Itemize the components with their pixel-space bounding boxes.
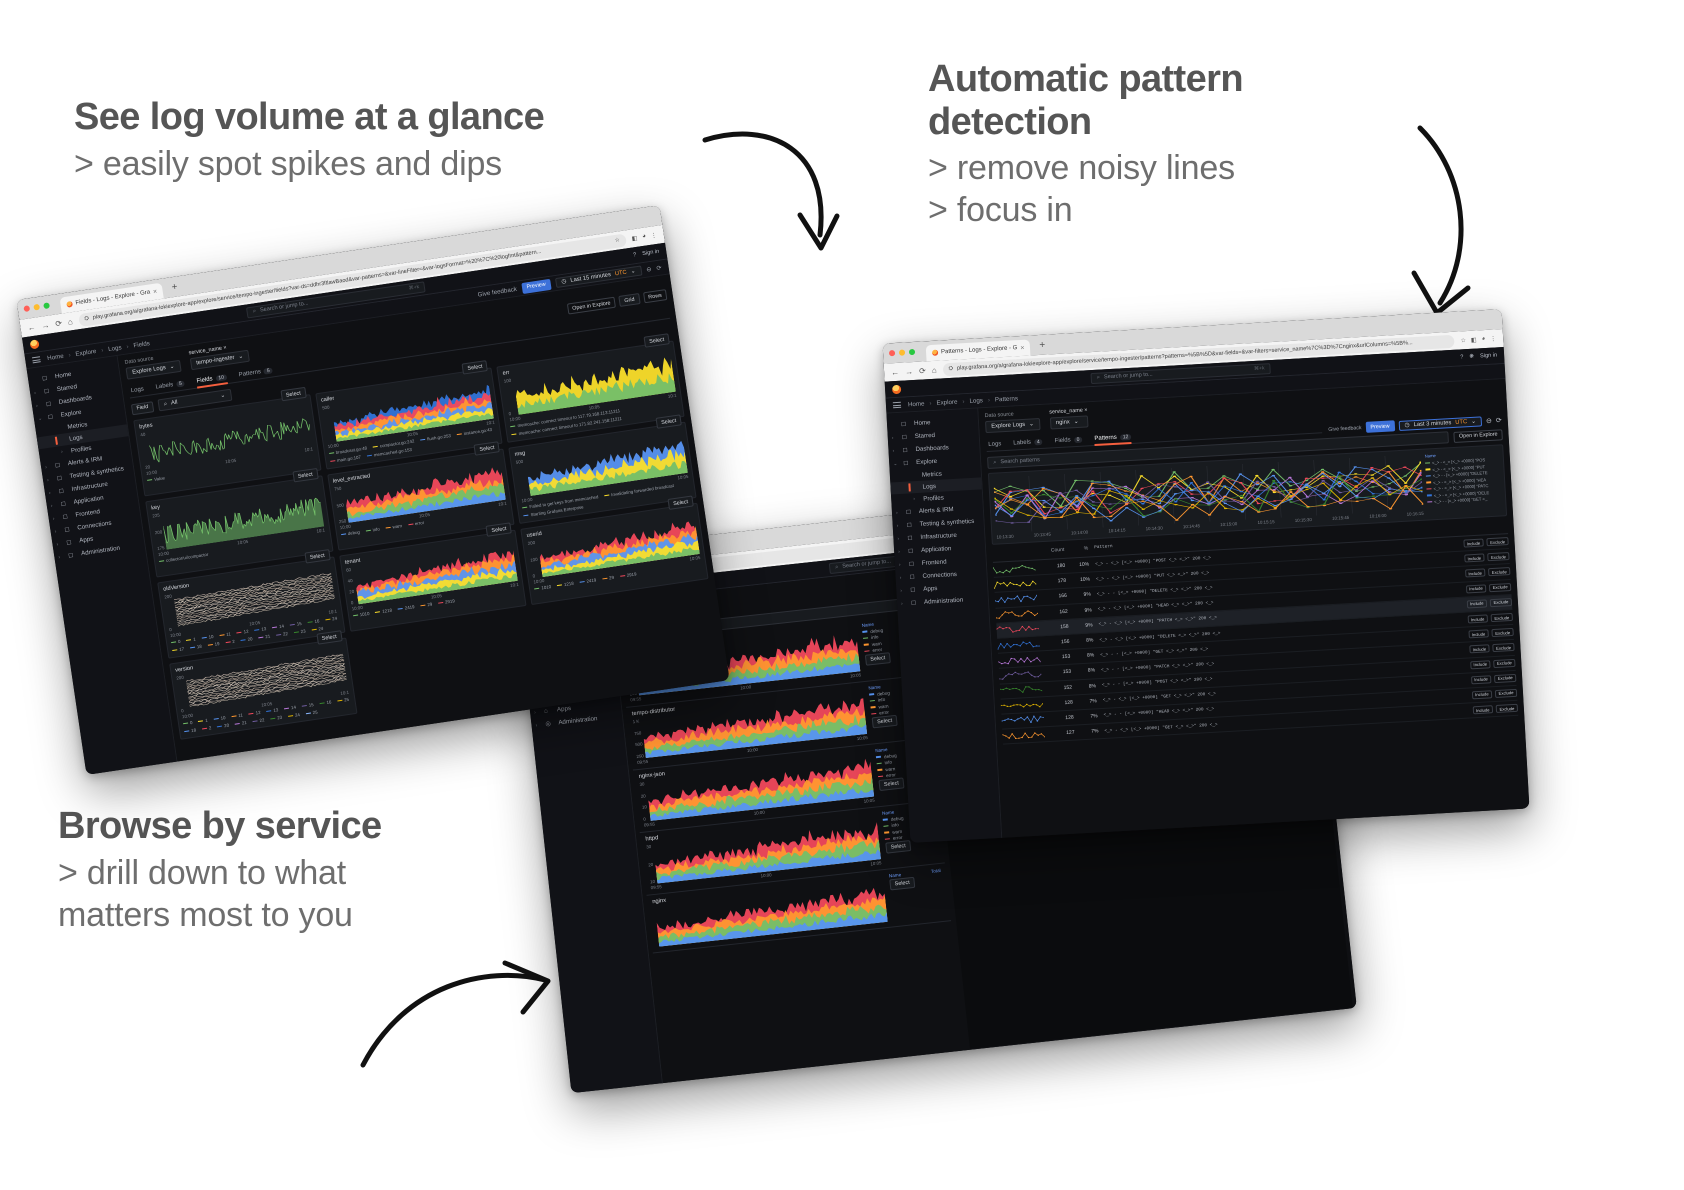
close-tab-icon[interactable]: ×	[153, 288, 158, 296]
maximize-window-icon[interactable]	[909, 349, 915, 355]
patterns-table[interactable]: Count % Pattern 18010%<_> - <_> [<_> +00…	[992, 520, 1518, 745]
tab-count: 0	[1074, 436, 1083, 442]
tab-label: Logs	[988, 441, 1001, 448]
pattern-count: 158	[1044, 624, 1068, 631]
annotation-browse-by-service: Browse by service > drill down to what m…	[58, 805, 578, 936]
tab-logs[interactable]: Logs	[130, 382, 145, 397]
x-tick: 10:14:15	[1108, 527, 1125, 533]
legend-entry[interactable]: 24	[288, 712, 300, 719]
exclude-button[interactable]: Exclude	[1490, 598, 1512, 607]
tab-patterns[interactable]: Patterns12	[1094, 430, 1132, 445]
breadcrumb-explore[interactable]: Explore	[936, 398, 957, 406]
sign-in-link[interactable]: Sign in	[1480, 352, 1497, 359]
include-button[interactable]: Include	[1463, 539, 1484, 548]
pattern-sparkline	[998, 654, 1040, 665]
include-button[interactable]: Include	[1469, 645, 1490, 654]
tab-labels[interactable]: Labels4	[1013, 435, 1043, 450]
legend-entry[interactable]: 22	[276, 631, 288, 638]
y-tick: 30	[646, 844, 651, 849]
legend-entry[interactable]: 18	[190, 644, 202, 651]
legend-entry[interactable]: 11	[231, 712, 243, 719]
legend-entry[interactable]: 15	[290, 621, 302, 628]
legend-entry[interactable]: 10	[213, 715, 225, 722]
forward-icon[interactable]: →	[41, 320, 50, 330]
include-button[interactable]: Include	[1465, 584, 1486, 593]
pattern-percent: 8%	[1075, 637, 1093, 644]
include-button[interactable]: Include	[1464, 554, 1485, 563]
menu-icon[interactable]: ⋮	[1490, 335, 1496, 342]
breadcrumb-logs[interactable]: Logs	[108, 344, 122, 353]
give-feedback-link[interactable]: Give feedback	[1328, 425, 1361, 433]
minimize-window-icon[interactable]	[33, 304, 40, 311]
legend-label: 29	[427, 602, 433, 608]
legend-label: 13	[261, 626, 267, 632]
layout-grid-button[interactable]: Grid	[619, 293, 641, 307]
legend-entry[interactable]: 29	[420, 602, 432, 609]
y-tick: 200	[527, 540, 535, 546]
y-tick: 40	[140, 432, 146, 438]
application-icon: ◻	[908, 547, 916, 555]
chevron-right-icon: ›	[47, 476, 53, 483]
browser-window-patterns[interactable]: Patterns - Logs - Explore - G × + ← → ⟳ …	[883, 309, 1530, 843]
exclude-button[interactable]: Exclude	[1489, 583, 1511, 592]
pattern-count: 166	[1043, 593, 1067, 600]
x-tick: 10:1	[340, 690, 349, 696]
layout-rows-button[interactable]: Rows	[643, 289, 668, 303]
legend-entry[interactable]: debug	[340, 529, 360, 537]
patterns-chart[interactable]: 10:13:3010:13:4510:14:0010:14:1510:14:30…	[993, 454, 1424, 540]
time-range-value: Last 3 minutes	[1413, 420, 1451, 428]
breadcrumb-home[interactable]: Home	[47, 352, 64, 361]
select-button[interactable]: Select	[865, 652, 891, 666]
legend-entry[interactable]: 15	[301, 702, 313, 709]
exclude-button[interactable]: Exclude	[1491, 613, 1513, 622]
legend-entry[interactable]: 23	[270, 715, 282, 722]
legend-label: 2419	[404, 604, 414, 610]
x-tick: 10:14:30	[1146, 525, 1163, 531]
pattern-percent: 7%	[1080, 713, 1098, 720]
legend-entry[interactable]: 1010	[352, 611, 369, 618]
pattern-sparkline	[1001, 700, 1043, 711]
legend-entry[interactable]: info	[365, 526, 380, 533]
x-tick: 09:55	[644, 822, 655, 828]
breadcrumb-logs[interactable]: Logs	[969, 397, 983, 405]
sidebar-item-label: Apps	[557, 705, 572, 713]
legend-label: 24	[295, 712, 301, 718]
x-tick: 09:55	[630, 696, 641, 702]
legend-label: debug	[884, 752, 897, 758]
x-tick: 10:15:45	[1332, 515, 1349, 521]
breadcrumb-patterns[interactable]: Patterns	[995, 395, 1018, 403]
legend-label: 18	[197, 644, 203, 650]
y-tick: 750	[334, 486, 342, 492]
application-icon: ◻	[60, 499, 69, 508]
annotation-pattern-detection-headline: Automatic pattern detection	[928, 58, 1448, 143]
home-icon[interactable]: ⌂	[932, 365, 937, 374]
legend-entry[interactable]: 16	[319, 699, 331, 706]
browser-toolbar-icons[interactable]: ☆ ◧ ◕ ⋮	[1460, 335, 1496, 344]
x-tick: 10:14:45	[1183, 523, 1200, 529]
x-tick: 10:1	[304, 446, 313, 452]
legend-entry[interactable]: 11	[219, 631, 231, 638]
tab-patterns[interactable]: Patterns5	[238, 363, 274, 381]
pattern-sparkline	[1002, 730, 1044, 741]
tab-logs[interactable]: Logs	[988, 437, 1002, 451]
legend-entry[interactable]: 21	[258, 634, 270, 641]
chevron-right-icon: ›	[61, 448, 67, 455]
y-tick: 200	[164, 594, 172, 600]
select-button[interactable]: Select	[316, 630, 342, 645]
exclude-button[interactable]: Exclude	[1488, 567, 1510, 576]
search-icon: ⌕	[993, 459, 997, 466]
datasource-group: Data source Explore Logs ⌄	[124, 352, 181, 380]
legend-label: 17	[179, 646, 185, 652]
legend-entry[interactable]: 14	[284, 705, 296, 712]
legend-label: 11	[238, 712, 243, 718]
legend-entry[interactable]: 14	[272, 623, 284, 630]
administration-icon: ◎	[545, 719, 554, 728]
legend-entry[interactable]: 1010	[534, 584, 551, 591]
open-in-explore-button[interactable]: Open in Explore	[567, 297, 617, 315]
back-icon[interactable]: ←	[27, 322, 36, 332]
menu-toggle-icon[interactable]	[32, 356, 41, 363]
pattern-sparkline	[997, 639, 1039, 650]
y-tick: 225	[152, 512, 160, 518]
exclude-button[interactable]: Exclude	[1492, 643, 1514, 652]
zoom-out-icon[interactable]: ⊖	[646, 265, 652, 273]
sign-in-link[interactable]: Sign in	[642, 249, 660, 257]
y-tick: 750	[634, 730, 642, 736]
tab-count: 12	[1120, 433, 1132, 440]
legend-entry[interactable]: 19	[207, 641, 219, 648]
menu-icon[interactable]: ⋮	[650, 231, 657, 239]
x-tick: 10:00	[146, 469, 158, 476]
annotation-browse-by-service-sub: > drill down to what matters most to you	[58, 852, 578, 936]
topbar-actions-patterns[interactable]: ? ❋ Sign in	[1460, 352, 1497, 360]
include-button[interactable]: Include	[1471, 675, 1492, 684]
legend-label: 13	[273, 707, 279, 713]
y-tick: 500	[336, 502, 344, 508]
include-button[interactable]: Include	[1467, 614, 1488, 623]
legend-entry[interactable]: 0	[183, 720, 193, 726]
search-icon: ⌕	[1097, 374, 1101, 381]
legend-entry[interactable]: 12	[236, 629, 248, 636]
patterns-chart-legend[interactable]: Name<_> - <_> [<_> +0000] "POS<_> - <_> …	[1425, 449, 1502, 515]
legend-entry[interactable]: 1	[186, 637, 196, 643]
chevron-right-icon	[58, 428, 63, 429]
compass-icon: ◻	[47, 412, 56, 421]
legend-entry[interactable]: 17	[172, 646, 184, 653]
x-tick: 10:1	[498, 501, 507, 507]
refresh-icon[interactable]: ⟳	[656, 264, 662, 272]
service-filter-group: service_name × nginx ⌄	[1049, 407, 1088, 429]
pattern-count: 153	[1047, 669, 1071, 676]
legend-entry[interactable]: 21	[235, 720, 247, 727]
legend-entry[interactable]: 25	[305, 710, 317, 717]
include-button[interactable]: Include	[1466, 599, 1487, 608]
back-icon[interactable]: ←	[891, 367, 899, 376]
x-tick: 10:15:30	[1295, 517, 1312, 523]
sidebar-item-label: Alerts & IRM	[919, 506, 954, 515]
sidebar-item-label: Explore	[916, 458, 937, 466]
legend-entry[interactable]: 1218	[375, 608, 392, 615]
browser-toolbar-icons[interactable]: ◧ ◕ ⋮	[631, 231, 657, 242]
x-tick: 10:1	[668, 393, 677, 399]
legend-label: 29	[609, 575, 615, 581]
legend-entry[interactable]: 1218	[557, 581, 574, 588]
patterns-main: Data source Explore Logs ⌄ service_name …	[978, 379, 1529, 843]
search-placeholder: Search or jump to...	[260, 300, 309, 313]
apps-icon: ⌂	[544, 706, 553, 715]
profile-icon[interactable]: ◕	[642, 233, 646, 239]
browser-tab-title: Patterns - Logs - Explore - G	[941, 345, 1018, 355]
open-in-explore-button[interactable]: Open in Explore	[1454, 429, 1503, 443]
exclude-button[interactable]: Exclude	[1495, 689, 1517, 698]
legend-label: 24	[318, 626, 324, 632]
legend-entry[interactable]: 10	[201, 634, 213, 641]
datasource-select[interactable]: Explore Logs ⌄	[985, 418, 1040, 433]
legend-label: 21	[265, 634, 271, 640]
x-tick: 10:05	[588, 404, 600, 411]
legend-label: info	[372, 526, 380, 532]
include-button[interactable]: Include	[1465, 569, 1486, 578]
breadcrumb-separator: ›	[126, 343, 129, 350]
include-button[interactable]: Include	[1471, 690, 1492, 699]
connections-icon: ◻	[909, 573, 917, 581]
forward-icon[interactable]: →	[905, 367, 913, 376]
x-tick: 10:1	[486, 420, 495, 426]
site-settings-icon[interactable]: ⛭	[948, 365, 953, 372]
tab-labels[interactable]: Labels5	[155, 376, 186, 393]
close-window-icon[interactable]	[23, 305, 30, 312]
legend-label: 1	[193, 637, 196, 642]
legend-label: debug	[870, 627, 883, 633]
legend-entry[interactable]: 1	[198, 718, 208, 724]
include-button[interactable]: Include	[1468, 630, 1489, 639]
legend-entry[interactable]: 24	[325, 616, 337, 623]
reload-icon[interactable]: ⟳	[919, 366, 926, 375]
topbar-actions-fields[interactable]: ? Sign in	[633, 249, 660, 259]
legend-entry[interactable]: Value	[147, 475, 165, 483]
sidebar-item-label: Starred	[56, 383, 77, 393]
new-tab-icon[interactable]: +	[171, 281, 178, 293]
legend-label: 0	[178, 639, 181, 644]
give-feedback-link[interactable]: Give feedback	[477, 285, 517, 298]
legend-label: 14	[291, 705, 297, 711]
y-tick: 0	[351, 600, 357, 606]
legend-entry[interactable]: 2	[225, 639, 235, 645]
select-button[interactable]: Select	[889, 876, 915, 890]
close-tab-icon[interactable]: ×	[1020, 344, 1024, 351]
legend-entry[interactable]: warn	[385, 523, 402, 530]
legend-label: 15	[308, 702, 314, 708]
legend-label: 1	[205, 718, 208, 723]
chevron-right-icon: ›	[56, 541, 62, 548]
include-button[interactable]: Include	[1470, 660, 1491, 669]
x-tick: 10:15:00	[1220, 521, 1237, 527]
sidebar-item-label: Home	[914, 419, 931, 427]
browser-window-fields[interactable]: Fields - Logs - Explore - Gra × + ← → ⟳ …	[16, 205, 729, 775]
reload-icon[interactable]: ⟳	[55, 318, 63, 328]
x-tick: 10:05	[431, 593, 443, 600]
remove-filter-icon[interactable]: ×	[1084, 407, 1087, 413]
breadcrumb-fields[interactable]: Fields	[133, 340, 150, 349]
legend-entry[interactable]: 20	[240, 636, 252, 643]
service-name-select[interactable]: nginx ⌄	[1050, 415, 1089, 429]
legend-label: 21	[242, 720, 248, 726]
legend-label: 25	[312, 710, 318, 716]
legend-label: 2919	[626, 571, 636, 577]
legend-entry[interactable]: 29	[602, 575, 614, 582]
select-button[interactable]: Select	[872, 714, 898, 728]
tab-label: Logs	[130, 386, 144, 394]
chevron-down-icon: ⌄	[169, 364, 175, 371]
legend-label: 10	[208, 634, 214, 640]
legend-label: 14	[279, 623, 285, 629]
tab-label: Fields	[196, 376, 213, 384]
legend-entry[interactable]: 2919	[619, 571, 636, 578]
legend-label: error	[415, 520, 425, 526]
legend-entry[interactable]: 25	[337, 697, 349, 704]
x-tick: 10:16:15	[1407, 511, 1424, 517]
legend-entry[interactable]: 13	[266, 707, 278, 714]
legend-label: info	[871, 634, 879, 640]
legend-entry[interactable]: 18	[184, 727, 196, 734]
chevron-right-icon: ›	[34, 389, 40, 396]
zoom-out-icon[interactable]: ⊖	[1486, 416, 1492, 424]
remove-filter-icon[interactable]: ×	[223, 345, 227, 351]
legend-label: info	[878, 697, 886, 703]
sidebar-item-label: Frontend	[922, 558, 947, 566]
infra-icon: ◻	[58, 486, 67, 495]
window-controls-patterns[interactable]	[889, 349, 915, 356]
y-tick: 100	[530, 556, 538, 562]
y-tick: 20	[349, 589, 355, 595]
site-settings-icon[interactable]: ⛭	[84, 315, 89, 323]
exclude-button[interactable]: Exclude	[1496, 704, 1518, 713]
breadcrumb-explore[interactable]: Explore	[75, 347, 97, 357]
exclude-button[interactable]: Exclude	[1487, 552, 1509, 561]
tab-fields[interactable]: Fields10	[196, 370, 228, 387]
pattern-count: 152	[1048, 684, 1072, 691]
breadcrumb-separator: ›	[929, 400, 931, 407]
help-icon[interactable]: ?	[1460, 354, 1463, 360]
legend-entry[interactable]: 22	[252, 717, 264, 724]
legend-entry[interactable]: 2	[202, 725, 212, 731]
legend-entry[interactable]: error	[408, 520, 425, 527]
legend-entry[interactable]: 24	[311, 626, 323, 633]
sidebar-item-label: Home	[55, 371, 72, 380]
pattern-percent: 10%	[1071, 562, 1089, 569]
compass-icon: ◻	[903, 459, 911, 467]
x-tick: 10:00	[351, 605, 363, 612]
close-window-icon[interactable]	[889, 350, 895, 356]
infra-icon: ◻	[907, 534, 915, 542]
time-range-picker[interactable]: ◷ Last 3 minutes UTC ⌄	[1398, 416, 1482, 431]
tab-fields[interactable]: Fields0	[1054, 433, 1082, 448]
select-button[interactable]: Select	[280, 387, 306, 402]
legend-label: flush.go:253	[427, 433, 451, 441]
minimize-window-icon[interactable]	[899, 349, 905, 355]
legend-label: main.go:107	[337, 454, 362, 462]
sidebar-item-label: Starred	[915, 432, 936, 440]
exclude-button[interactable]: Exclude	[1492, 628, 1514, 637]
extensions-icon[interactable]: ◧	[631, 234, 638, 242]
chevron-right-icon: ›	[899, 574, 904, 580]
legend-entry[interactable]: 2919	[438, 598, 455, 605]
chevron-right-icon: ›	[36, 402, 42, 409]
new-tab-icon[interactable]: +	[1039, 339, 1045, 350]
legend-entry[interactable]: main.go:107	[330, 454, 362, 464]
home-icon[interactable]: ⌂	[67, 317, 73, 327]
legend-entry[interactable]: 23	[293, 628, 305, 635]
legend-label: warn	[392, 523, 402, 529]
legend-entry[interactable]: 13	[254, 626, 266, 633]
legend-entry[interactable]: 20	[217, 723, 229, 730]
exclude-button[interactable]: Exclude	[1486, 537, 1508, 546]
window-controls-fields[interactable]	[23, 302, 50, 312]
profile-icon[interactable]: ◕	[1481, 336, 1485, 342]
legend-label: 11	[226, 631, 231, 637]
pattern-percent: 8%	[1078, 683, 1096, 690]
menu-toggle-icon[interactable]	[893, 402, 901, 408]
sidebar-item-label: Testing & synthetics	[919, 518, 974, 528]
y-tick: 500	[635, 742, 643, 748]
x-tick: 10:00	[533, 578, 545, 585]
x-tick: 10:16:00	[1369, 513, 1386, 519]
exclude-button[interactable]: Exclude	[1493, 658, 1515, 667]
legend-entry[interactable]: 12	[248, 710, 260, 717]
sidebar-item-label: Frontend	[75, 508, 101, 519]
legend-label: 12	[255, 710, 261, 716]
breadcrumb-home[interactable]: Home	[908, 400, 925, 408]
search-icon: ⌕	[253, 308, 257, 315]
select-button[interactable]: Select	[878, 777, 904, 791]
news-icon[interactable]: ❋	[1469, 354, 1474, 360]
legend-label: 25	[344, 697, 350, 703]
legend-header-name: Name	[868, 684, 881, 690]
refresh-icon[interactable]: ⟳	[1496, 416, 1502, 424]
sidebar-item-label: Apps	[79, 535, 94, 544]
bookmark-icon[interactable]: ☆	[1460, 337, 1466, 344]
legend-entry[interactable]: 0	[171, 639, 181, 645]
grafana-logo-icon	[29, 339, 39, 349]
legend-label: 16	[326, 699, 332, 705]
chevron-right-icon: ›	[898, 548, 903, 554]
bookmark-icon[interactable]: ☆	[614, 237, 620, 244]
exclude-button[interactable]: Exclude	[1494, 674, 1516, 683]
maximize-window-icon[interactable]	[43, 302, 50, 309]
include-button[interactable]: Include	[1472, 705, 1493, 714]
search-shortcut-label: ⌘+k	[1254, 365, 1265, 372]
legend-entry[interactable]: 16	[307, 618, 319, 625]
chevron-down-icon: ⌄	[630, 268, 636, 275]
pattern-sparkline	[996, 609, 1038, 620]
legend-header-name: Name	[875, 747, 888, 753]
legend-label: 23	[300, 628, 306, 634]
annotation-browse-by-service-headline: Browse by service	[58, 805, 578, 848]
x-tick: 10:05	[249, 620, 261, 627]
legend-entry[interactable]: 2419	[579, 577, 596, 584]
x-tick: 10:15:15	[1257, 519, 1274, 525]
x-tick: 10:00	[509, 416, 521, 423]
extensions-icon[interactable]: ◧	[1471, 336, 1477, 343]
legend-entry[interactable]: 2419	[398, 604, 415, 611]
select-button[interactable]: Select	[885, 840, 911, 854]
chevron-right-icon: ›	[535, 722, 541, 729]
help-icon[interactable]: ?	[633, 252, 637, 258]
chevron-right-icon: ›	[897, 535, 902, 541]
